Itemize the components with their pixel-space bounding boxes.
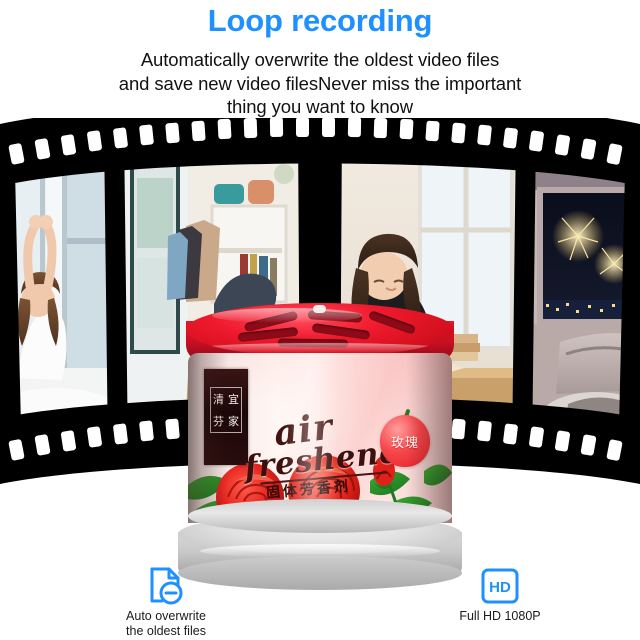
subtitle-line-1: Automatically overwrite the oldest video… <box>141 49 499 70</box>
document-minus-icon <box>66 566 266 606</box>
can-lid-top <box>186 303 454 357</box>
hd-badge-text: HD <box>489 579 511 596</box>
can-body: 清 宜 芬 家 air freshener 固体芳香剂 玫瑰 <box>188 353 452 523</box>
can-bottom-rim <box>188 499 452 533</box>
brand-char-4: 家 <box>228 416 239 427</box>
can-shading-left <box>188 353 228 523</box>
page-subtitle: Automatically overwrite the oldest video… <box>40 36 600 119</box>
feature-auto-overwrite: Auto overwrite the oldest files <box>66 566 266 640</box>
feature-full-hd: HD Full HD 1080P <box>400 566 600 624</box>
page-title: Loop recording <box>0 0 640 36</box>
can-shading-right <box>406 353 452 523</box>
subtitle-line-3: thing you want to know <box>227 96 413 117</box>
filmstrip-stage: 清 宜 芬 家 air freshener 固体芳香剂 玫瑰 <box>0 118 640 563</box>
feature-label-auto-overwrite: Auto overwrite the oldest files <box>66 606 266 640</box>
product-can: 清 宜 芬 家 air freshener 固体芳香剂 玫瑰 <box>186 303 454 541</box>
feature-row: Auto overwrite the oldest files HD Full … <box>0 566 640 640</box>
feature-1-line-2: the oldest files <box>126 624 206 638</box>
feature-label-full-hd: Full HD 1080P <box>400 606 600 624</box>
feature-1-line-1: Auto overwrite <box>126 609 206 623</box>
feature-2-line-1: Full HD 1080P <box>459 609 540 623</box>
can-highlight <box>284 353 338 523</box>
header-block: Loop recording Automatically overwrite t… <box>0 0 640 128</box>
subtitle-line-2: and save new video filesNever miss the i… <box>119 73 521 94</box>
brand-char-2: 宜 <box>228 394 239 405</box>
hd-badge-icon: HD <box>400 566 600 606</box>
